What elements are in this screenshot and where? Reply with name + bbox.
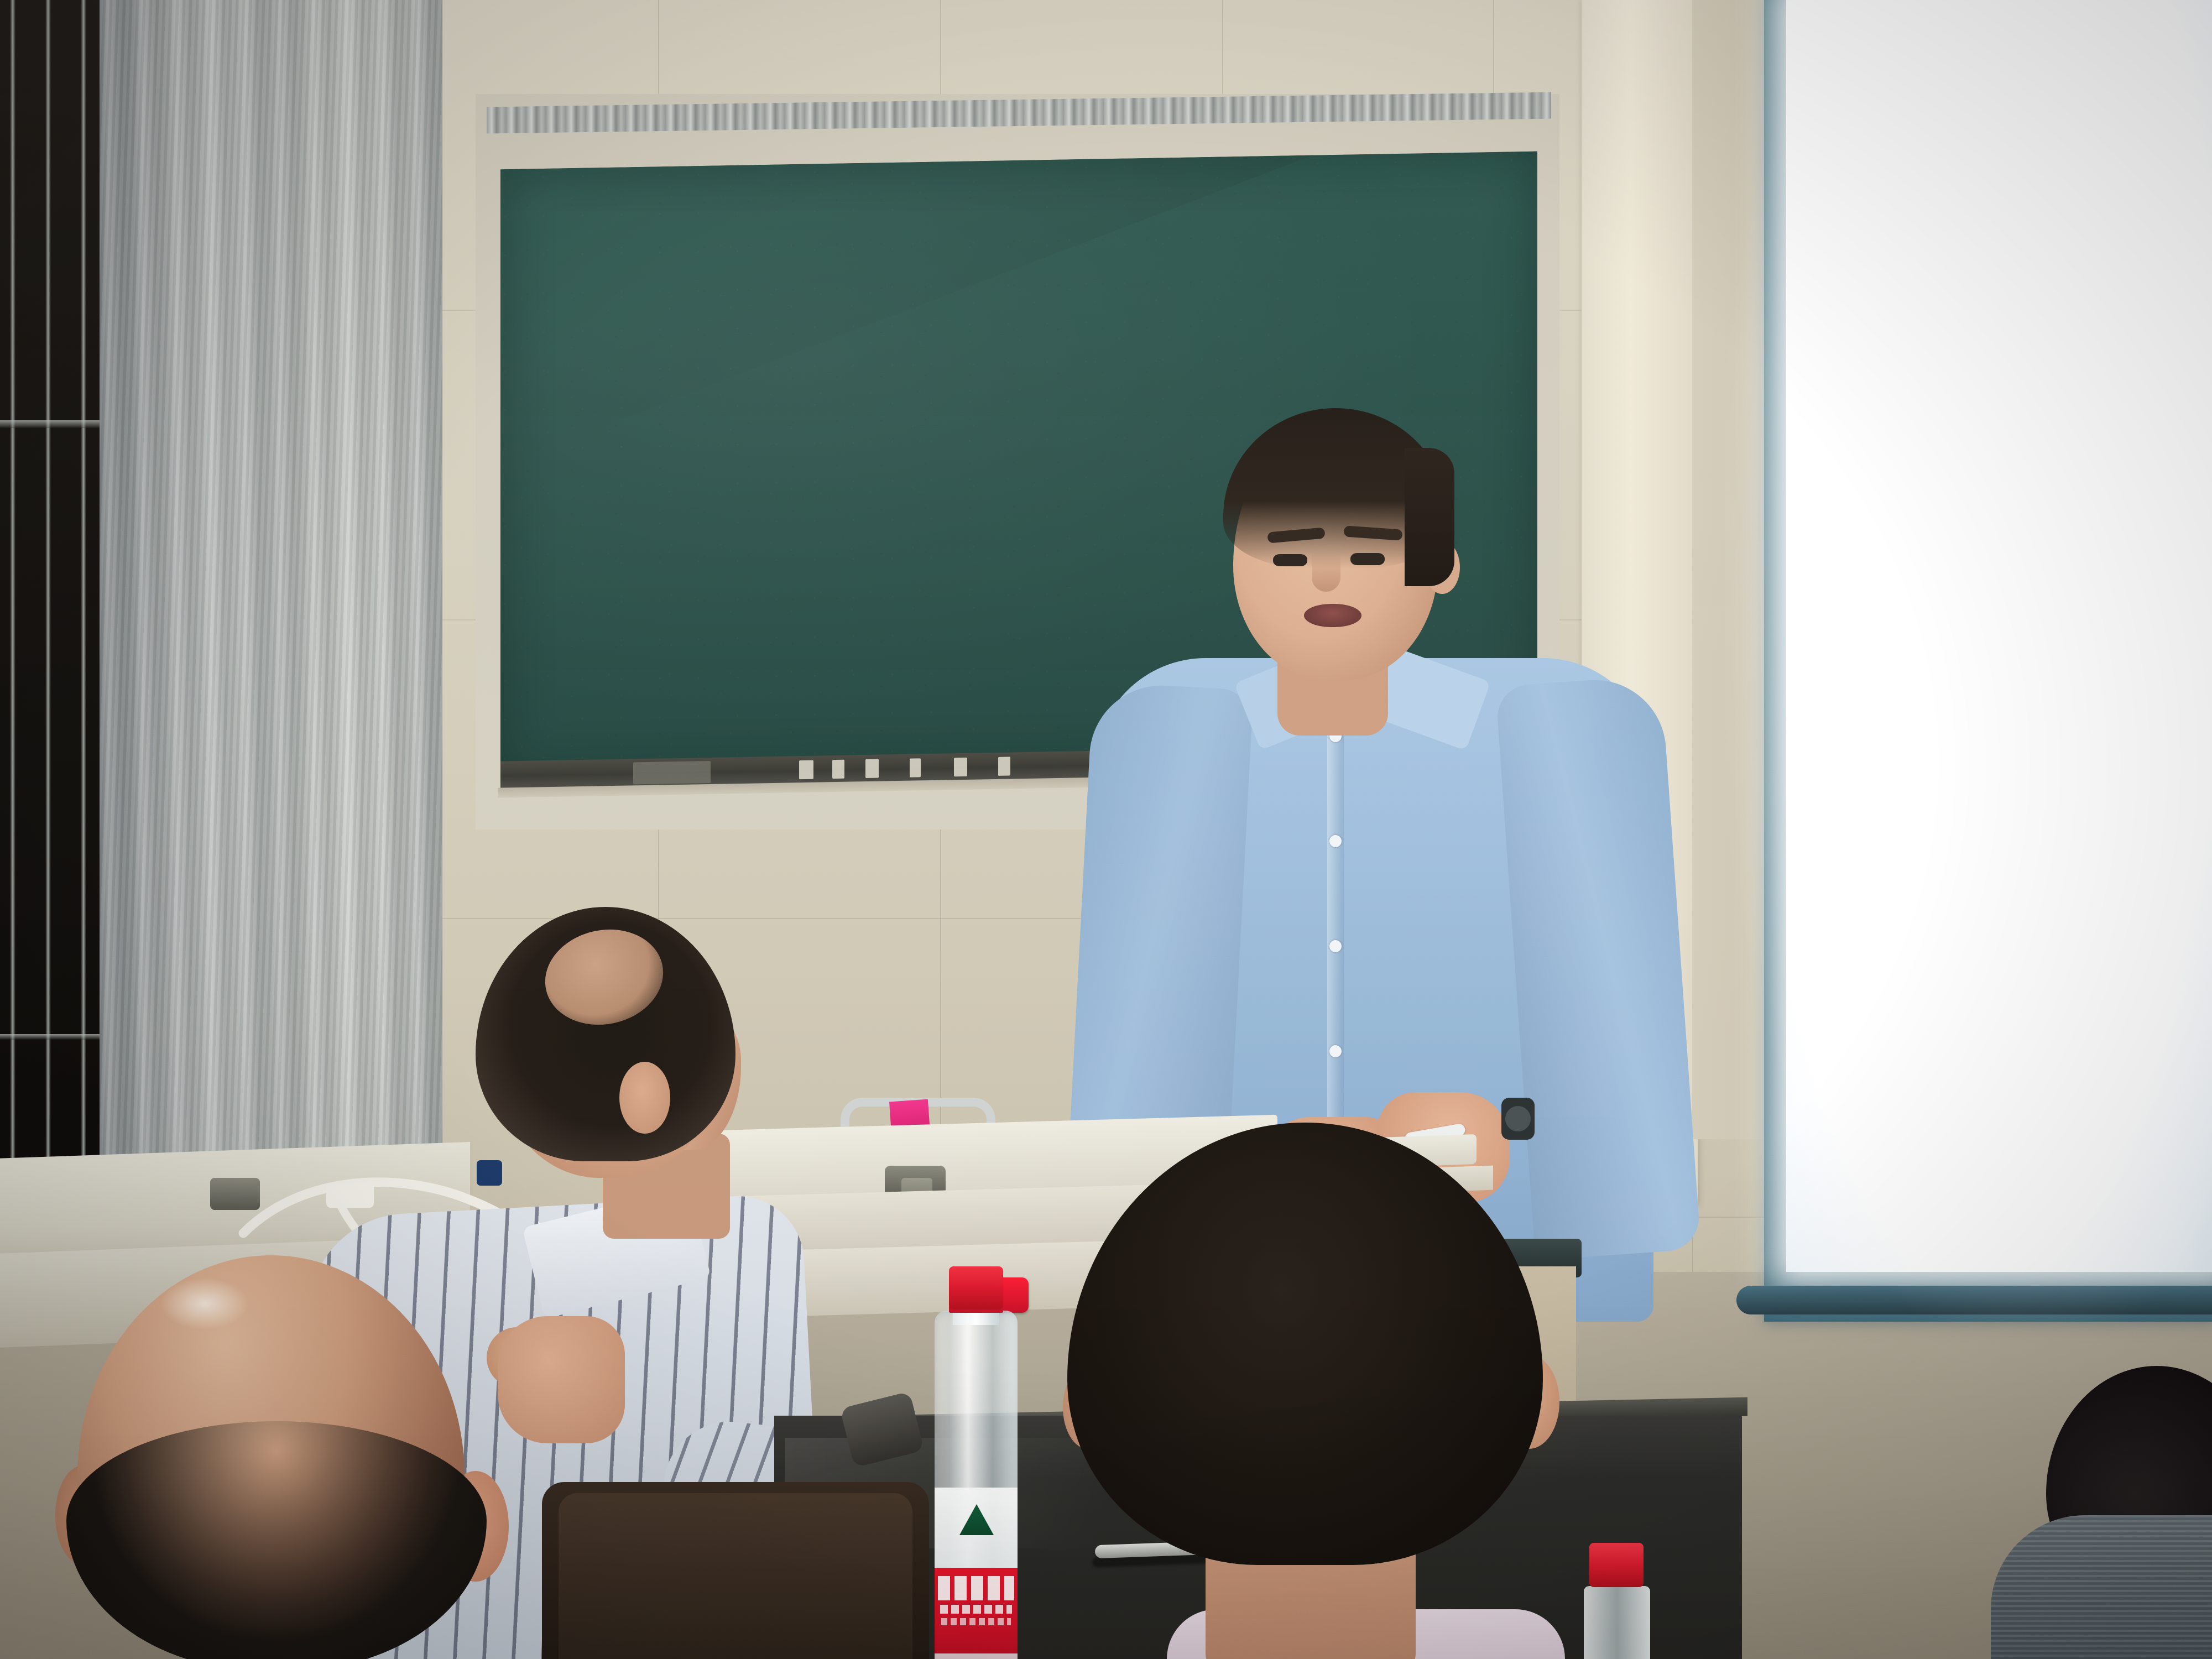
seated-man-ear [619, 1062, 670, 1134]
window-sill [1736, 1286, 2212, 1314]
curtain-pleats [100, 0, 442, 1200]
bottle-brand-en-text: NONGFU SPRING [0, 0, 4, 1]
left-window-frame [0, 0, 111, 1183]
bottle-cap [949, 1266, 1003, 1310]
bottle-brand-text-cn [938, 1576, 1014, 1600]
front-row-hair [1067, 1123, 1543, 1565]
shirt-button [1329, 835, 1342, 847]
right-window-glass [1786, 0, 2212, 1272]
bottom-left-scalp-highlight [160, 1277, 249, 1330]
speaker-mouth [1304, 604, 1361, 627]
front-row-head-left [33, 1255, 531, 1659]
speaker-nose [1312, 551, 1340, 592]
front-row-head-center [1067, 1123, 1620, 1659]
bottle-base [935, 1653, 1018, 1659]
speaker-eye-right [1350, 553, 1385, 565]
speaker-eye-left [1273, 554, 1307, 566]
shirt-button [1329, 1045, 1342, 1057]
bottom-right-knit-texture [1991, 1515, 2212, 1659]
speaker-hair-side [1405, 448, 1454, 586]
photo-canvas: Classroom lecture — speaker standing in … [0, 0, 2212, 1659]
bottle-subtext [941, 1618, 1011, 1625]
shirt-button [1329, 940, 1342, 952]
water-bottle [935, 1266, 1018, 1659]
bottle-brand-text-en [940, 1605, 1012, 1614]
wall-pilaster-secondary [1692, 0, 1775, 1139]
bottom-left-hair [66, 1421, 487, 1659]
front-row-shoulder-right [1891, 1432, 2212, 1659]
chair-back-inner [559, 1493, 912, 1659]
